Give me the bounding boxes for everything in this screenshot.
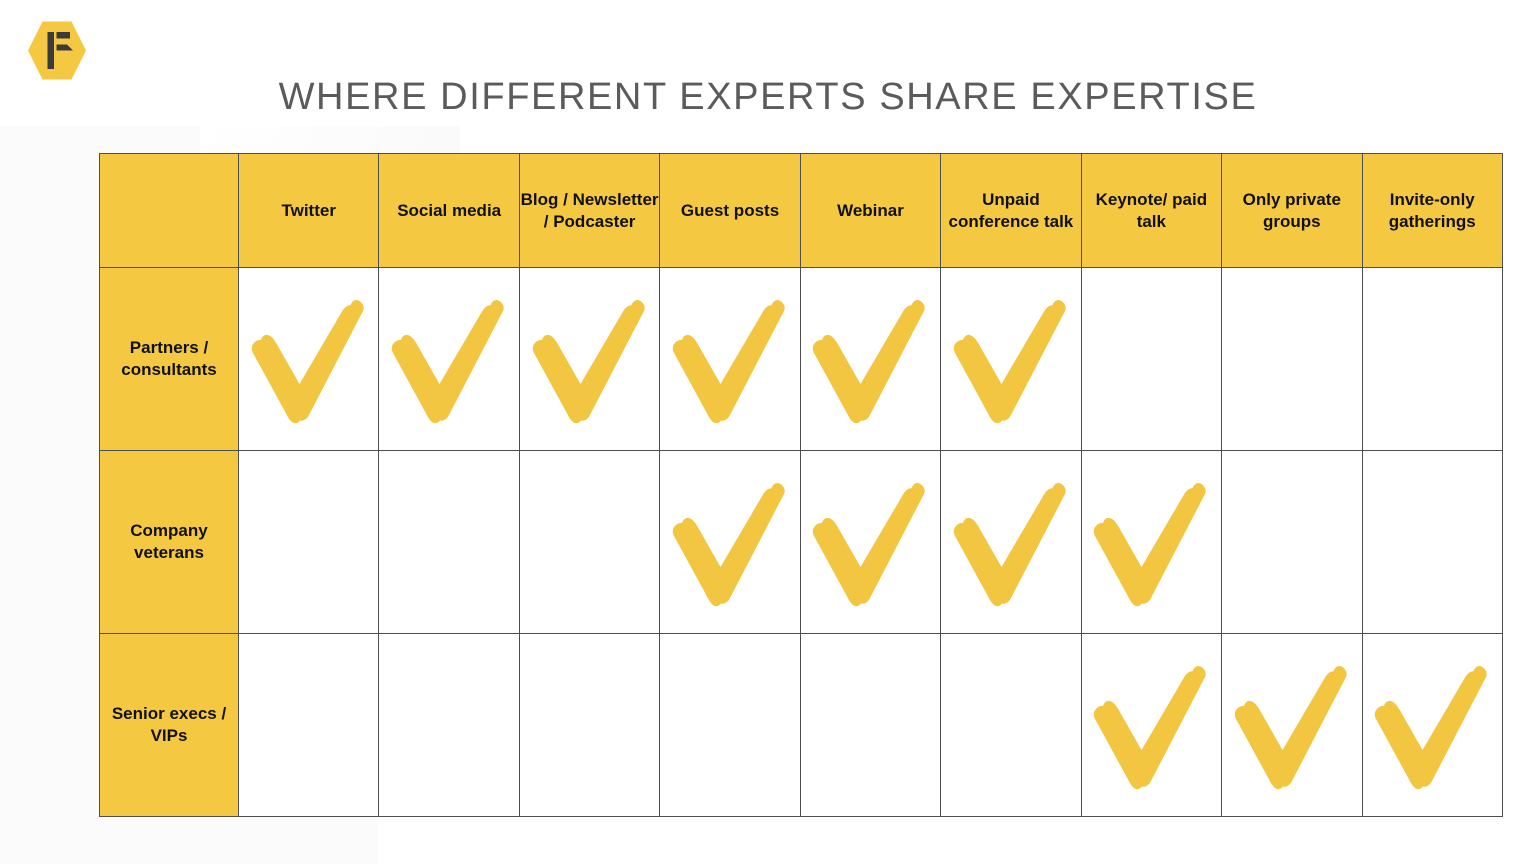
matrix-cell[interactable] (239, 268, 379, 451)
matrix-cell[interactable] (519, 634, 659, 817)
column-header-only-private-groups: Only private groups (1222, 154, 1362, 268)
matrix-cell[interactable] (1362, 634, 1503, 817)
matrix-cell[interactable] (519, 451, 659, 634)
matrix-cell[interactable] (519, 268, 659, 451)
brand-hexagon-logo (27, 20, 87, 81)
matrix-cell[interactable] (1362, 451, 1503, 634)
checkmark-icon (949, 472, 1073, 612)
checkmark-icon (1370, 655, 1494, 795)
column-header-social-media: Social media (379, 154, 519, 268)
corner-cell (100, 154, 239, 268)
matrix-cell[interactable] (1222, 268, 1362, 451)
matrix-cell[interactable] (1081, 451, 1221, 634)
matrix-cell[interactable] (379, 451, 519, 634)
row-senior-execs-vips: Senior execs / VIPs (100, 634, 1503, 817)
checkmark-icon (668, 472, 792, 612)
checkmark-icon (668, 289, 792, 429)
column-header-invite-only-gatherings: Invite-only gatherings (1362, 154, 1503, 268)
matrix-cell[interactable] (660, 634, 800, 817)
matrix-cell[interactable] (941, 268, 1081, 451)
checkmark-icon (247, 289, 371, 429)
matrix-cell[interactable] (1081, 268, 1221, 451)
column-header-webinar: Webinar (800, 154, 940, 268)
matrix-cell[interactable] (660, 268, 800, 451)
column-header-guest-posts: Guest posts (660, 154, 800, 268)
matrix-cell[interactable] (941, 451, 1081, 634)
header-row: Twitter Social media Blog / Newsletter /… (100, 154, 1503, 268)
matrix-cell[interactable] (1222, 634, 1362, 817)
row-header-label: Company veterans (100, 451, 239, 634)
matrix-cell[interactable] (660, 451, 800, 634)
matrix-cell[interactable] (941, 634, 1081, 817)
matrix-cell[interactable] (239, 451, 379, 634)
matrix-cell[interactable] (379, 268, 519, 451)
row-company-veterans: Company veterans (100, 451, 1503, 634)
checkmark-icon (1089, 472, 1213, 612)
matrix-cell[interactable] (1081, 634, 1221, 817)
matrix-cell[interactable] (1362, 268, 1503, 451)
checkmark-icon (1230, 655, 1354, 795)
column-header-blog-newsletter-podcaster: Blog / Newsletter / Podcaster (519, 154, 659, 268)
page-title: WHERE DIFFERENT EXPERTS SHARE EXPERTISE (0, 76, 1536, 119)
checkmark-icon (387, 289, 511, 429)
checkmark-icon (949, 289, 1073, 429)
matrix-cell[interactable] (800, 451, 940, 634)
matrix-cell[interactable] (800, 634, 940, 817)
slide-canvas: WHERE DIFFERENT EXPERTS SHARE EXPERTISE … (0, 0, 1536, 864)
column-header-twitter: Twitter (239, 154, 379, 268)
table-body: Partners / consultants Company veterans (100, 268, 1503, 817)
column-header-keynote-paid-talk: Keynote/ paid talk (1081, 154, 1221, 268)
table-header: Twitter Social media Blog / Newsletter /… (100, 154, 1503, 268)
row-partners-consultants: Partners / consultants (100, 268, 1503, 451)
column-header-unpaid-conference-talk: Unpaid conference talk (941, 154, 1081, 268)
expertise-matrix-table: Twitter Social media Blog / Newsletter /… (99, 153, 1503, 817)
checkmark-icon (808, 472, 932, 612)
expertise-matrix: Twitter Social media Blog / Newsletter /… (99, 153, 1503, 817)
matrix-cell[interactable] (1222, 451, 1362, 634)
checkmark-icon (1089, 655, 1213, 795)
matrix-cell[interactable] (800, 268, 940, 451)
checkmark-icon (528, 289, 652, 429)
matrix-cell[interactable] (379, 634, 519, 817)
matrix-cell[interactable] (239, 634, 379, 817)
row-header-label: Senior execs / VIPs (100, 634, 239, 817)
row-header-label: Partners / consultants (100, 268, 239, 451)
checkmark-icon (808, 289, 932, 429)
